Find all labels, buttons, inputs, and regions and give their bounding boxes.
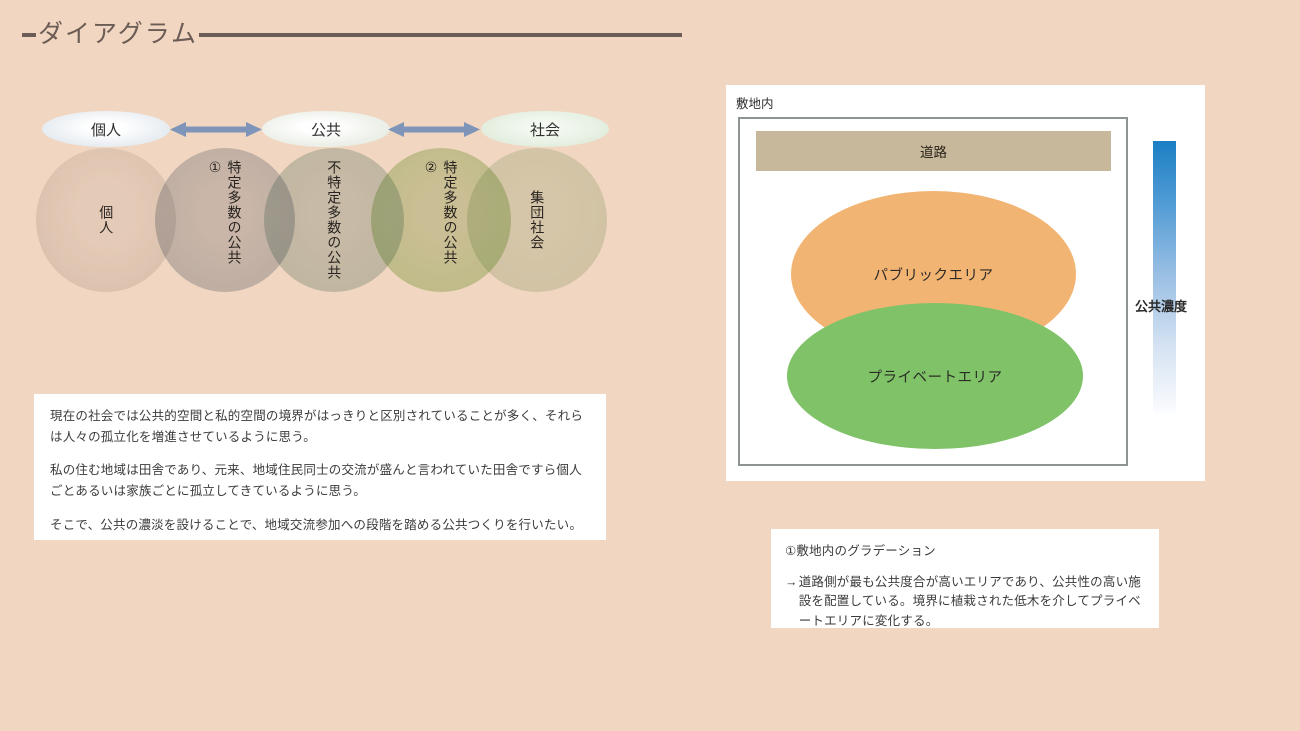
gradient-circle-individual-label: 個人 bbox=[97, 205, 115, 235]
caption-title: ①敷地内のグラデーション bbox=[785, 540, 1145, 559]
top-ellipse-society-label: 社会 bbox=[530, 119, 560, 140]
double-arrow-icon bbox=[388, 122, 480, 137]
caption-box: ①敷地内のグラデーション → 道路側が最も公共度合が高いエリアであり、公共性の高… bbox=[771, 529, 1159, 628]
top-ellipse-society: 社会 bbox=[481, 111, 609, 147]
description-paragraph: そこで、公共の濃淡を設けることで、地域交流参加への段階を踏める公共つくりを行いた… bbox=[50, 515, 590, 536]
private-area-ellipse: プライベートエリア bbox=[787, 303, 1083, 449]
road-band-label: 道路 bbox=[920, 141, 947, 161]
caption-body: → 道路側が最も公共度合が高いエリアであり、公共性の高い施設を配置している。境界… bbox=[785, 573, 1145, 631]
arrow-right-icon: → bbox=[785, 573, 799, 631]
private-area-label: プライベートエリア bbox=[868, 366, 1003, 387]
title-leading-dash bbox=[22, 33, 36, 37]
title-horizontal-rule bbox=[199, 33, 682, 37]
site-plan-label: 敷地内 bbox=[736, 93, 774, 112]
caption-text: 道路側が最も公共度合が高いエリアであり、公共性の高い施設を配置している。境界に植… bbox=[799, 573, 1145, 631]
gradient-circle-specific-public-1-label: 特定多数の公共① bbox=[207, 160, 244, 280]
site-plan-frame: 道路 パブリックエリア プライベートエリア bbox=[738, 117, 1128, 466]
gradient-circle-group-society-label: 集団社会 bbox=[528, 190, 546, 250]
top-ellipse-public-label: 公共 bbox=[311, 119, 341, 140]
concept-diagram: 個人 公共 社会 個人 特定多数の公共① 不特定多数の公共 特定多数の公共② 集… bbox=[0, 100, 660, 320]
slide-title-bar: ダイアグラム bbox=[22, 18, 682, 52]
gradient-circle-group-society: 集団社会 bbox=[467, 148, 607, 292]
description-paragraph: 私の住む地域は田舎であり、元来、地域住民同士の交流が盛んと言われていた田舎ですら… bbox=[50, 460, 590, 501]
double-arrow-icon bbox=[170, 122, 262, 137]
gradient-circle-specific-public-2-label: 特定多数の公共② bbox=[423, 160, 460, 280]
top-ellipse-public: 公共 bbox=[262, 111, 390, 147]
top-ellipse-individual: 個人 bbox=[42, 111, 170, 147]
top-ellipse-individual-label: 個人 bbox=[91, 119, 121, 140]
description-text-box: 現在の社会では公共的空間と私的空間の境界がはっきりと区別されていることが多く、そ… bbox=[34, 394, 606, 540]
public-area-label: パブリックエリア bbox=[874, 264, 994, 285]
page-title: ダイアグラム bbox=[38, 22, 198, 49]
site-plan-panel: 敷地内 道路 パブリックエリア プライベートエリア bbox=[726, 85, 1205, 481]
public-density-gradient-bar bbox=[1153, 141, 1176, 413]
gradient-circle-unspecified-public-label: 不特定多数の公共 bbox=[325, 160, 343, 280]
road-band: 道路 bbox=[756, 131, 1111, 171]
description-paragraph: 現在の社会では公共的空間と私的空間の境界がはっきりと区別されていることが多く、そ… bbox=[50, 406, 590, 447]
public-density-legend-label: 公共濃度 bbox=[1135, 296, 1187, 315]
